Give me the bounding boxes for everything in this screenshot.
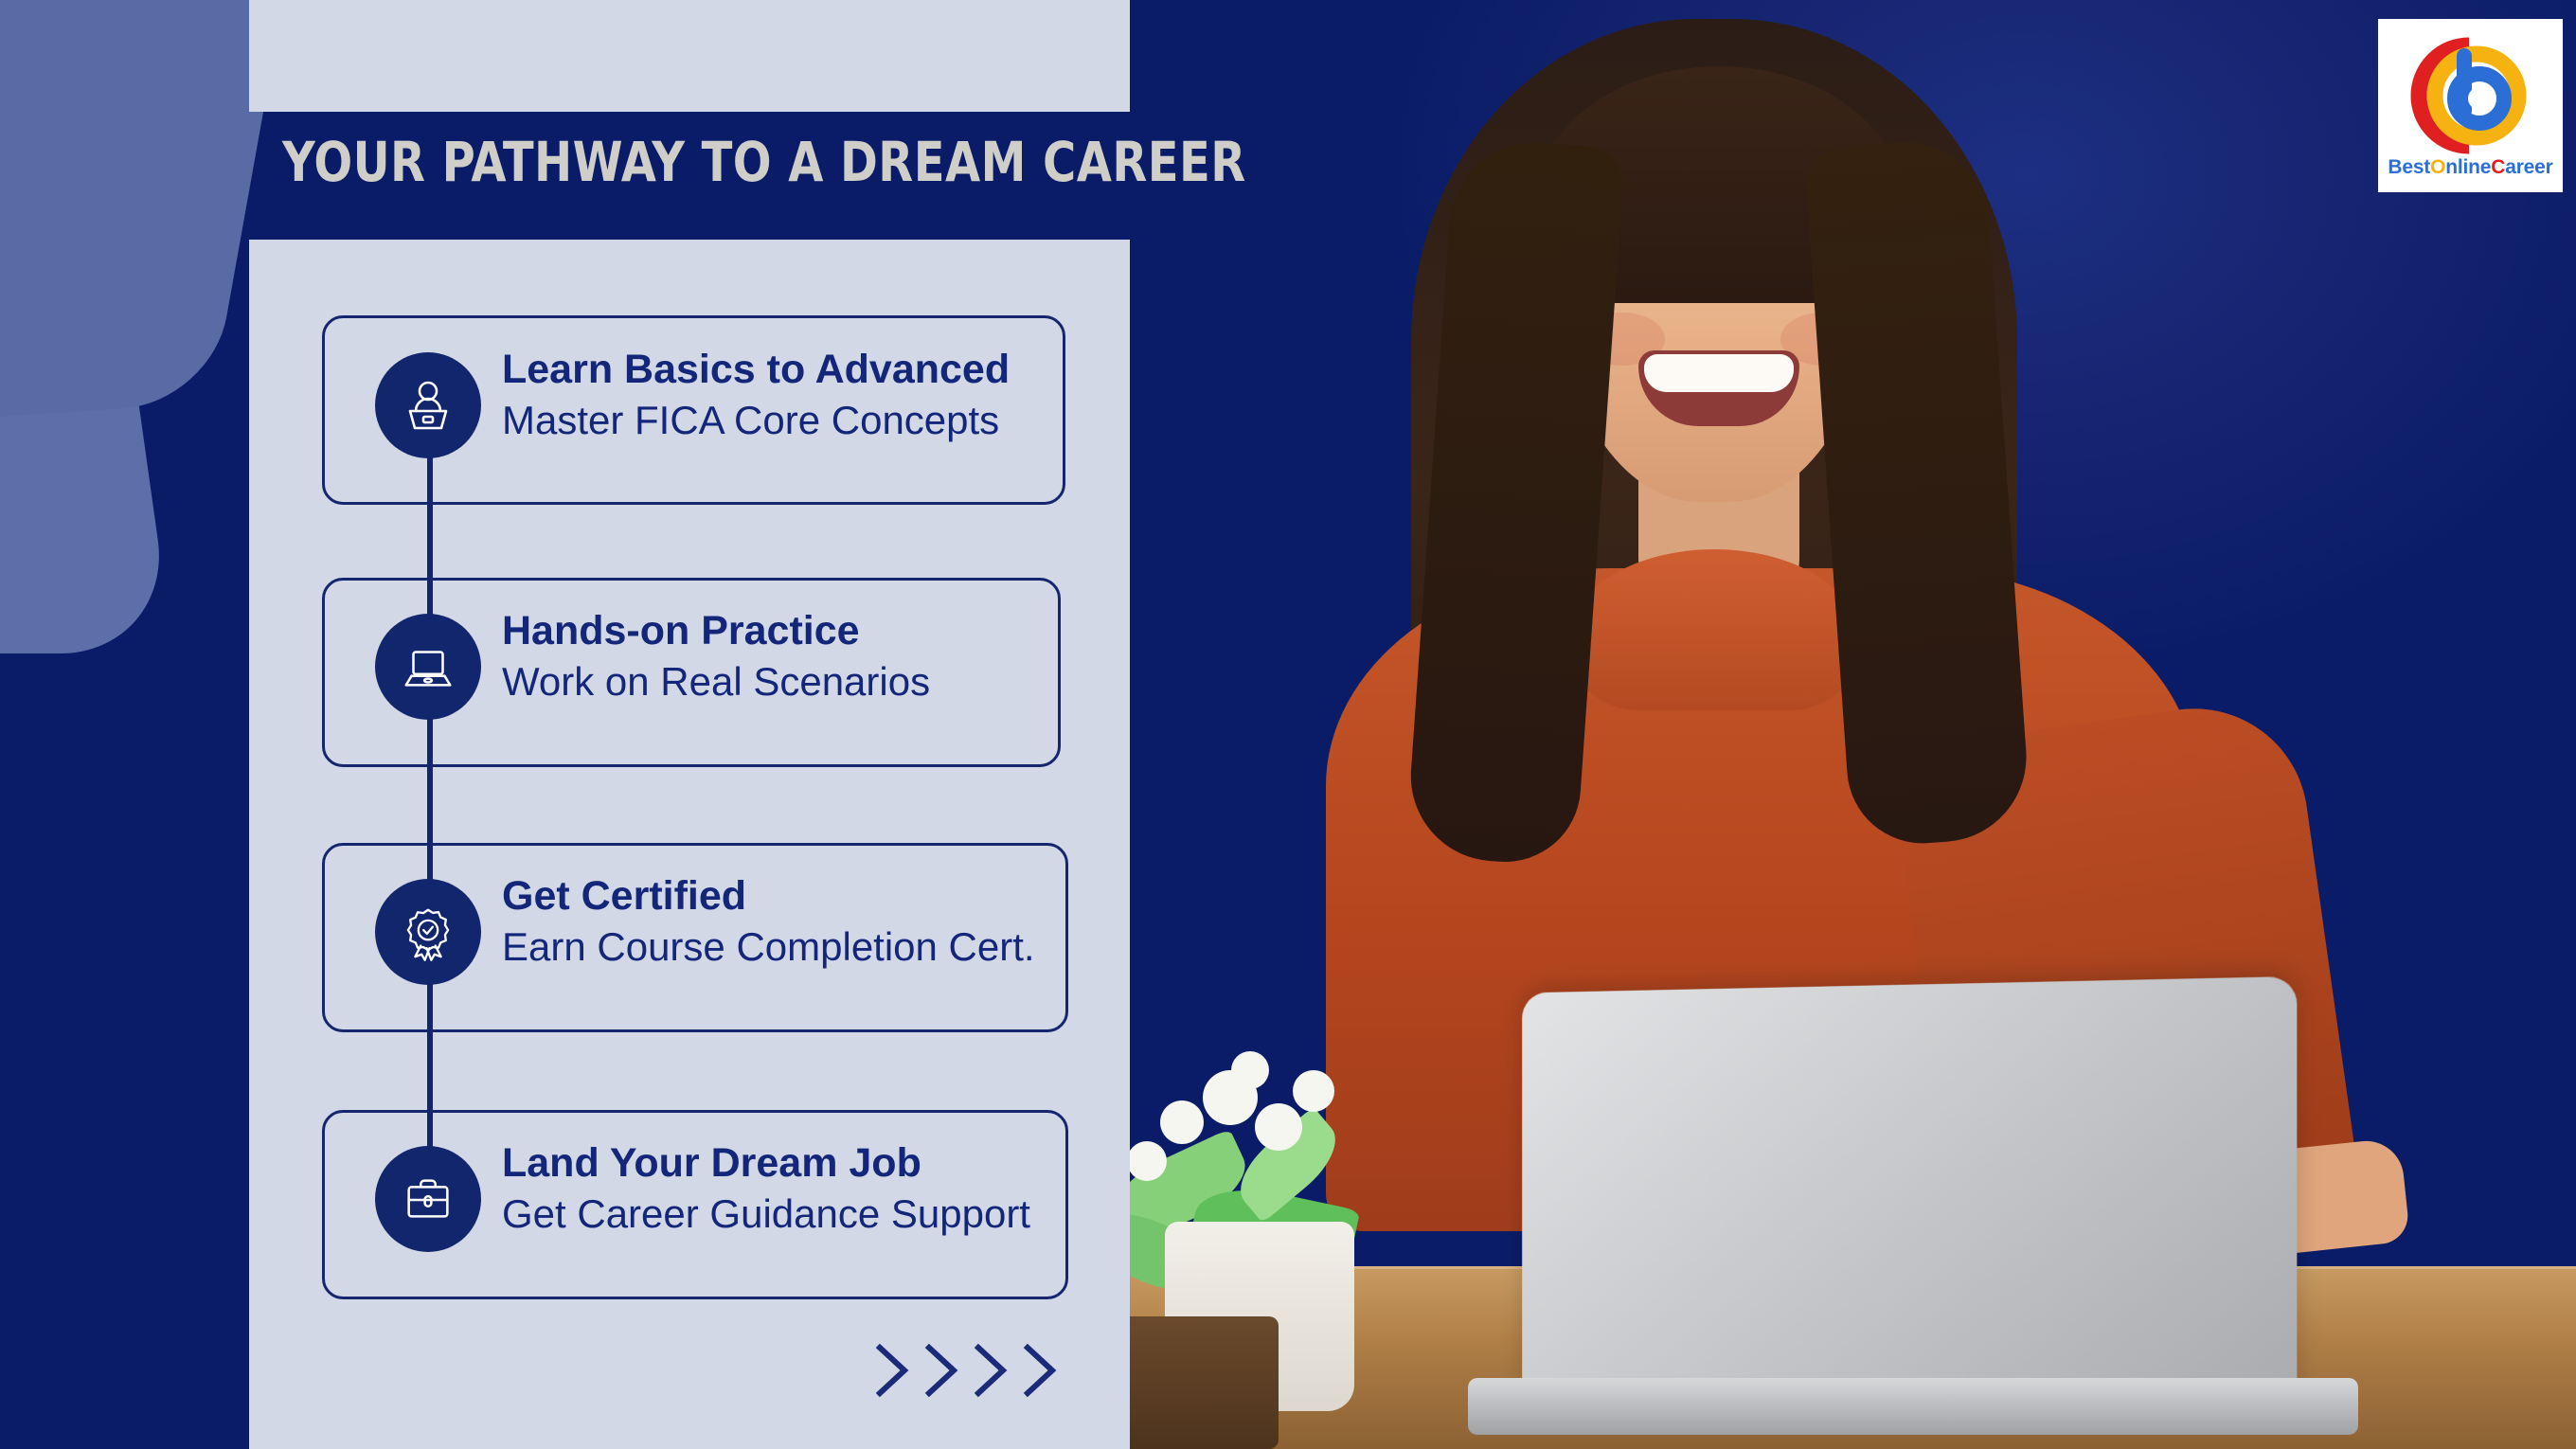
briefcase-icon: [375, 1146, 481, 1252]
poster-canvas: YOUR PATHWAY TO A DREAM CAREER Learn Bas…: [0, 0, 2576, 1449]
step-3-title: Get Certified: [502, 873, 1089, 920]
step-card-2-text: Hands-on Practice Work on Real Scenarios: [502, 608, 1089, 707]
laptop-base: [1468, 1378, 2358, 1435]
person-collar: [1572, 549, 1856, 710]
logo-text-part-1: B: [2388, 156, 2402, 178]
step-2-title: Hands-on Practice: [502, 608, 1089, 654]
brand-logo[interactable]: BestOnlineCareer: [2378, 19, 2563, 192]
logo-text-part-3: O: [2430, 156, 2445, 178]
step-4-title: Land Your Dream Job: [502, 1140, 1089, 1187]
certificate-ribbon-icon: [375, 879, 481, 985]
step-4-subtitle: Get Career Guidance Support: [502, 1190, 1089, 1238]
logo-text-part-6: areer: [2505, 156, 2552, 178]
step-1-subtitle: Master FICA Core Concepts: [502, 397, 1089, 444]
chevron-right-icon: [871, 1340, 913, 1401]
step-3-subtitle: Earn Course Completion Cert.: [502, 923, 1089, 971]
plant-pot-wood: [1127, 1316, 1279, 1449]
logo-text-part-4: nline: [2445, 156, 2491, 178]
chevron-group: [871, 1340, 1061, 1401]
podium-speaker-icon: [375, 352, 481, 458]
chevron-right-icon: [970, 1340, 1011, 1401]
step-card-1-text: Learn Basics to Advanced Master FICA Cor…: [502, 347, 1089, 445]
laptop-screen: [1522, 976, 2297, 1410]
step-card-4-text: Land Your Dream Job Get Career Guidance …: [502, 1140, 1089, 1239]
page-title: YOUR PATHWAY TO A DREAM CAREER: [282, 134, 1049, 189]
laptop-icon: [375, 614, 481, 720]
logo-text-part-2: est: [2402, 156, 2430, 178]
brand-logo-text: BestOnlineCareer: [2388, 156, 2552, 179]
logo-text-part-5: C: [2491, 156, 2505, 178]
panel-top-strip: [249, 0, 1130, 112]
person-teeth: [1644, 354, 1794, 392]
hero-photo: [1127, 0, 2576, 1449]
chevron-right-icon: [1019, 1340, 1061, 1401]
step-1-title: Learn Basics to Advanced: [502, 347, 1089, 393]
chevron-right-icon: [921, 1340, 962, 1401]
step-2-subtitle: Work on Real Scenarios: [502, 658, 1089, 706]
bestonlinecareer-circle-b-logo: [2410, 37, 2531, 154]
step-card-3-text: Get Certified Earn Course Completion Cer…: [502, 873, 1089, 972]
